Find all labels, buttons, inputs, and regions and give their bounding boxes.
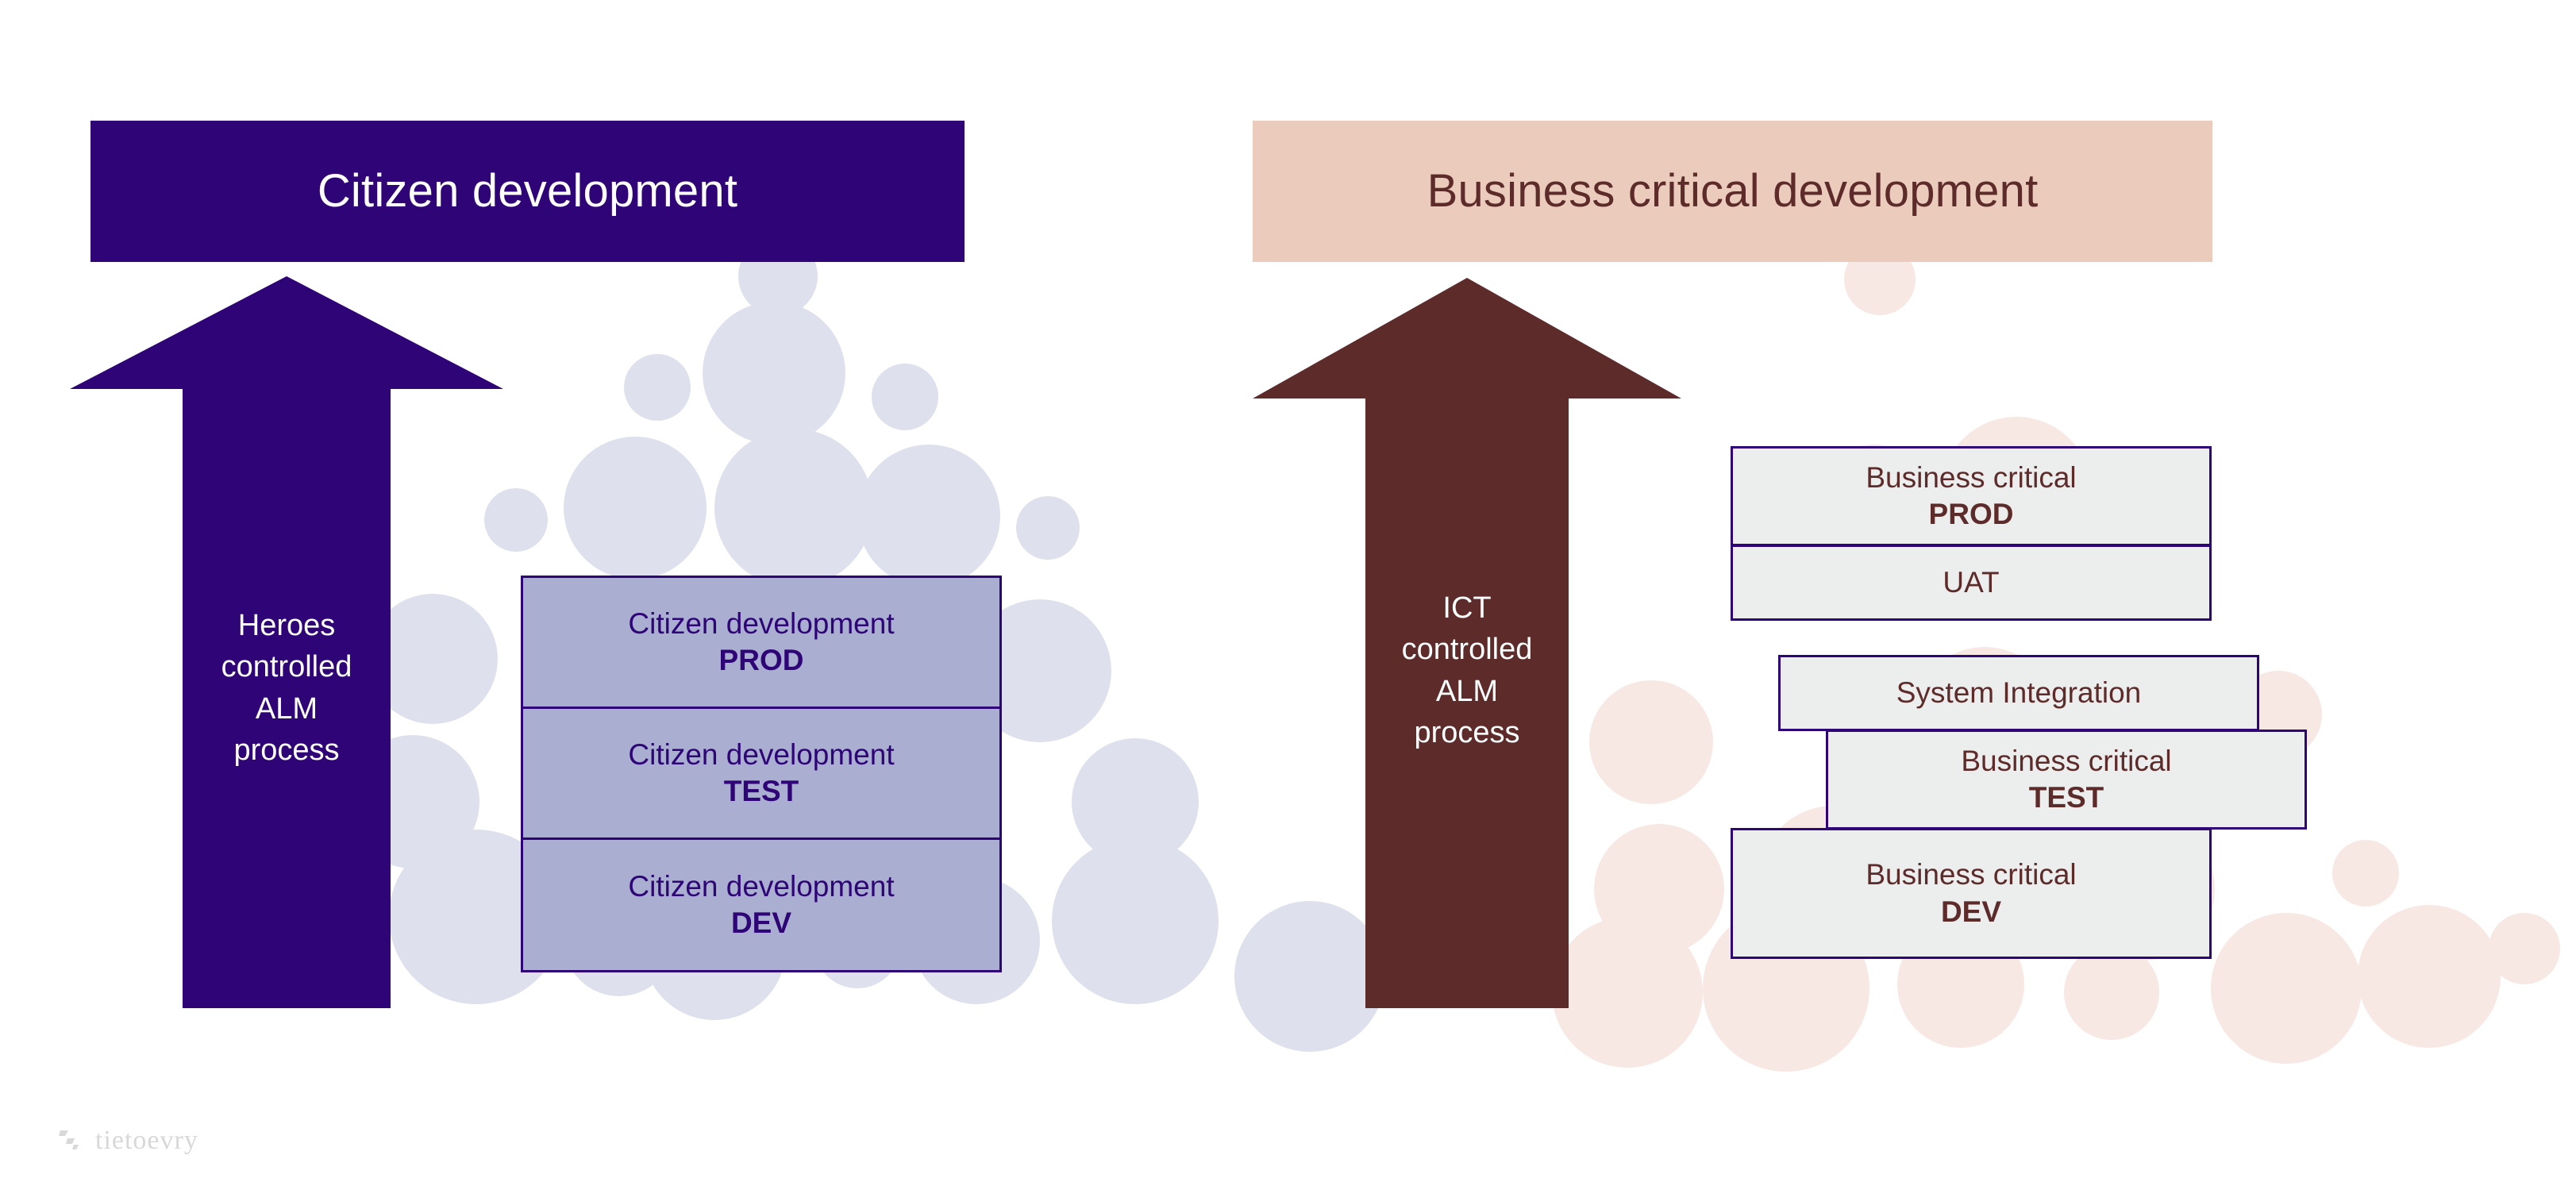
decorative-circle: [2211, 913, 2362, 1064]
business-system-integration-label: System Integration: [1896, 675, 2141, 711]
decorative-circle: [872, 364, 938, 430]
tietoevry-logo-text: tietoevry: [95, 1126, 198, 1156]
business-dev-box[interactable]: Business critical DEV: [1731, 828, 2212, 959]
business-critical-banner: Business critical development: [1253, 121, 2212, 262]
citizen-test-line2: TEST: [724, 773, 799, 810]
decorative-circle: [2489, 913, 2560, 984]
citizen-dev-line2: DEV: [731, 905, 791, 941]
business-test-line2: TEST: [2029, 780, 2104, 816]
business-uat-box[interactable]: UAT: [1731, 545, 2212, 621]
business-arrow-label: ICT controlled ALM process: [1253, 587, 1681, 754]
citizen-development-banner-title: Citizen development: [318, 166, 737, 217]
citizen-prod-box[interactable]: Citizen development PROD: [521, 576, 1002, 709]
business-critical-arrow: ICT controlled ALM process: [1253, 278, 1681, 1008]
decorative-circle: [1072, 738, 1199, 865]
decorative-circle: [2358, 905, 2501, 1048]
tietoevry-mark-icon: [57, 1129, 84, 1153]
citizen-test-line1: Citizen development: [628, 737, 894, 773]
business-prod-line1: Business critical: [1866, 460, 2076, 496]
slide-canvas: Citizen development Heroes controlled AL…: [0, 0, 2576, 1182]
decorative-circle: [564, 437, 707, 579]
decorative-circle: [2332, 840, 2399, 907]
business-uat-label: UAT: [1943, 564, 1999, 601]
citizen-test-box[interactable]: Citizen development TEST: [521, 707, 1002, 840]
business-system-integration-box[interactable]: System Integration: [1778, 655, 2259, 731]
business-dev-line2: DEV: [1941, 894, 2001, 930]
business-test-box[interactable]: Business critical TEST: [1826, 730, 2307, 830]
tietoevry-logo: tietoevry: [57, 1126, 198, 1156]
decorative-circle: [1016, 496, 1080, 560]
decorative-circle: [703, 302, 845, 445]
business-critical-banner-title: Business critical development: [1427, 166, 2039, 217]
business-prod-line2: PROD: [1929, 496, 2014, 533]
business-dev-line1: Business critical: [1866, 857, 2076, 893]
citizen-dev-line1: Citizen development: [628, 868, 894, 905]
decorative-circle: [857, 445, 1000, 587]
business-prod-box[interactable]: Business critical PROD: [1731, 446, 2212, 546]
citizen-dev-box[interactable]: Citizen development DEV: [521, 837, 1002, 972]
decorative-circle: [1052, 837, 1219, 1004]
decorative-circle: [624, 354, 691, 421]
citizen-prod-line1: Citizen development: [628, 606, 894, 642]
decorative-circle: [714, 429, 873, 587]
citizen-prod-line2: PROD: [719, 642, 804, 679]
citizen-development-banner: Citizen development: [90, 121, 965, 262]
decorative-circle: [2064, 945, 2159, 1040]
business-test-line1: Business critical: [1961, 743, 2171, 780]
citizen-arrow-label: Heroes controlled ALM process: [70, 605, 503, 772]
citizen-development-arrow: Heroes controlled ALM process: [70, 276, 503, 1008]
